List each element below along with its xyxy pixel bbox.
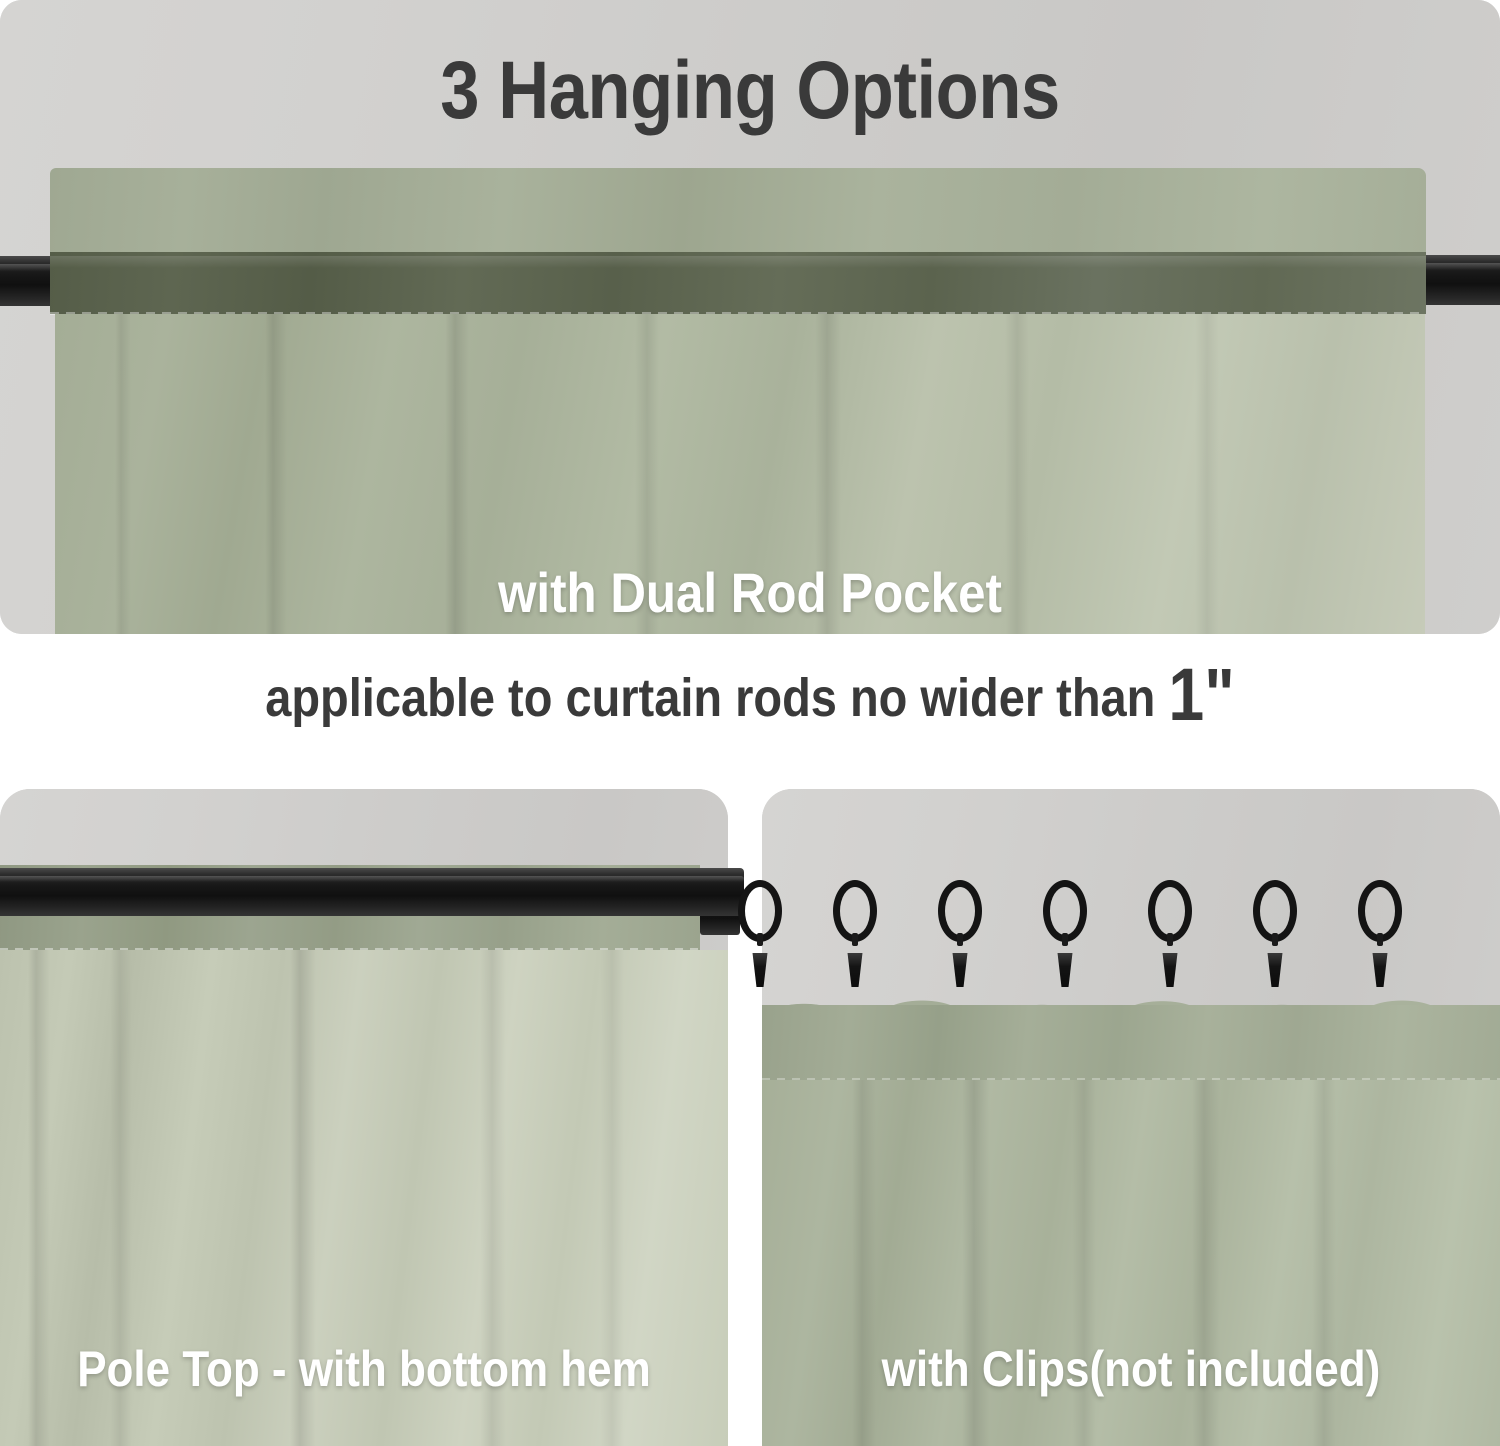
curtain-rod-right-end [1420, 255, 1500, 305]
curtain-ring [1043, 880, 1087, 942]
caption-pole-top: Pole Top - with bottom hem [44, 1340, 685, 1398]
subtitle: applicable to curtain rods no wider than… [98, 665, 1403, 729]
product-infographic: 3 Hanging Options with Dual Rod Pocket a… [0, 0, 1500, 1446]
curtain-ring [738, 880, 782, 942]
rod-pocket-band [50, 252, 1426, 314]
curtain-ring [1358, 880, 1402, 942]
caption-dual-rod-pocket: with Dual Rod Pocket [90, 560, 1410, 625]
curtain-ring [938, 880, 982, 942]
curtain-rod-clips-panel [0, 868, 744, 916]
subtitle-measurement: 1" [1168, 653, 1234, 736]
curtain-ring [1253, 880, 1297, 942]
curtain-ring [833, 880, 877, 942]
page-title: 3 Hanging Options [105, 44, 1395, 138]
curtain-ring [1148, 880, 1192, 942]
subtitle-text: applicable to curtain rods no wider than [265, 668, 1155, 728]
clips-curtain-header-band [762, 1005, 1500, 1083]
caption-clips: with Clips(not included) [806, 1340, 1455, 1398]
